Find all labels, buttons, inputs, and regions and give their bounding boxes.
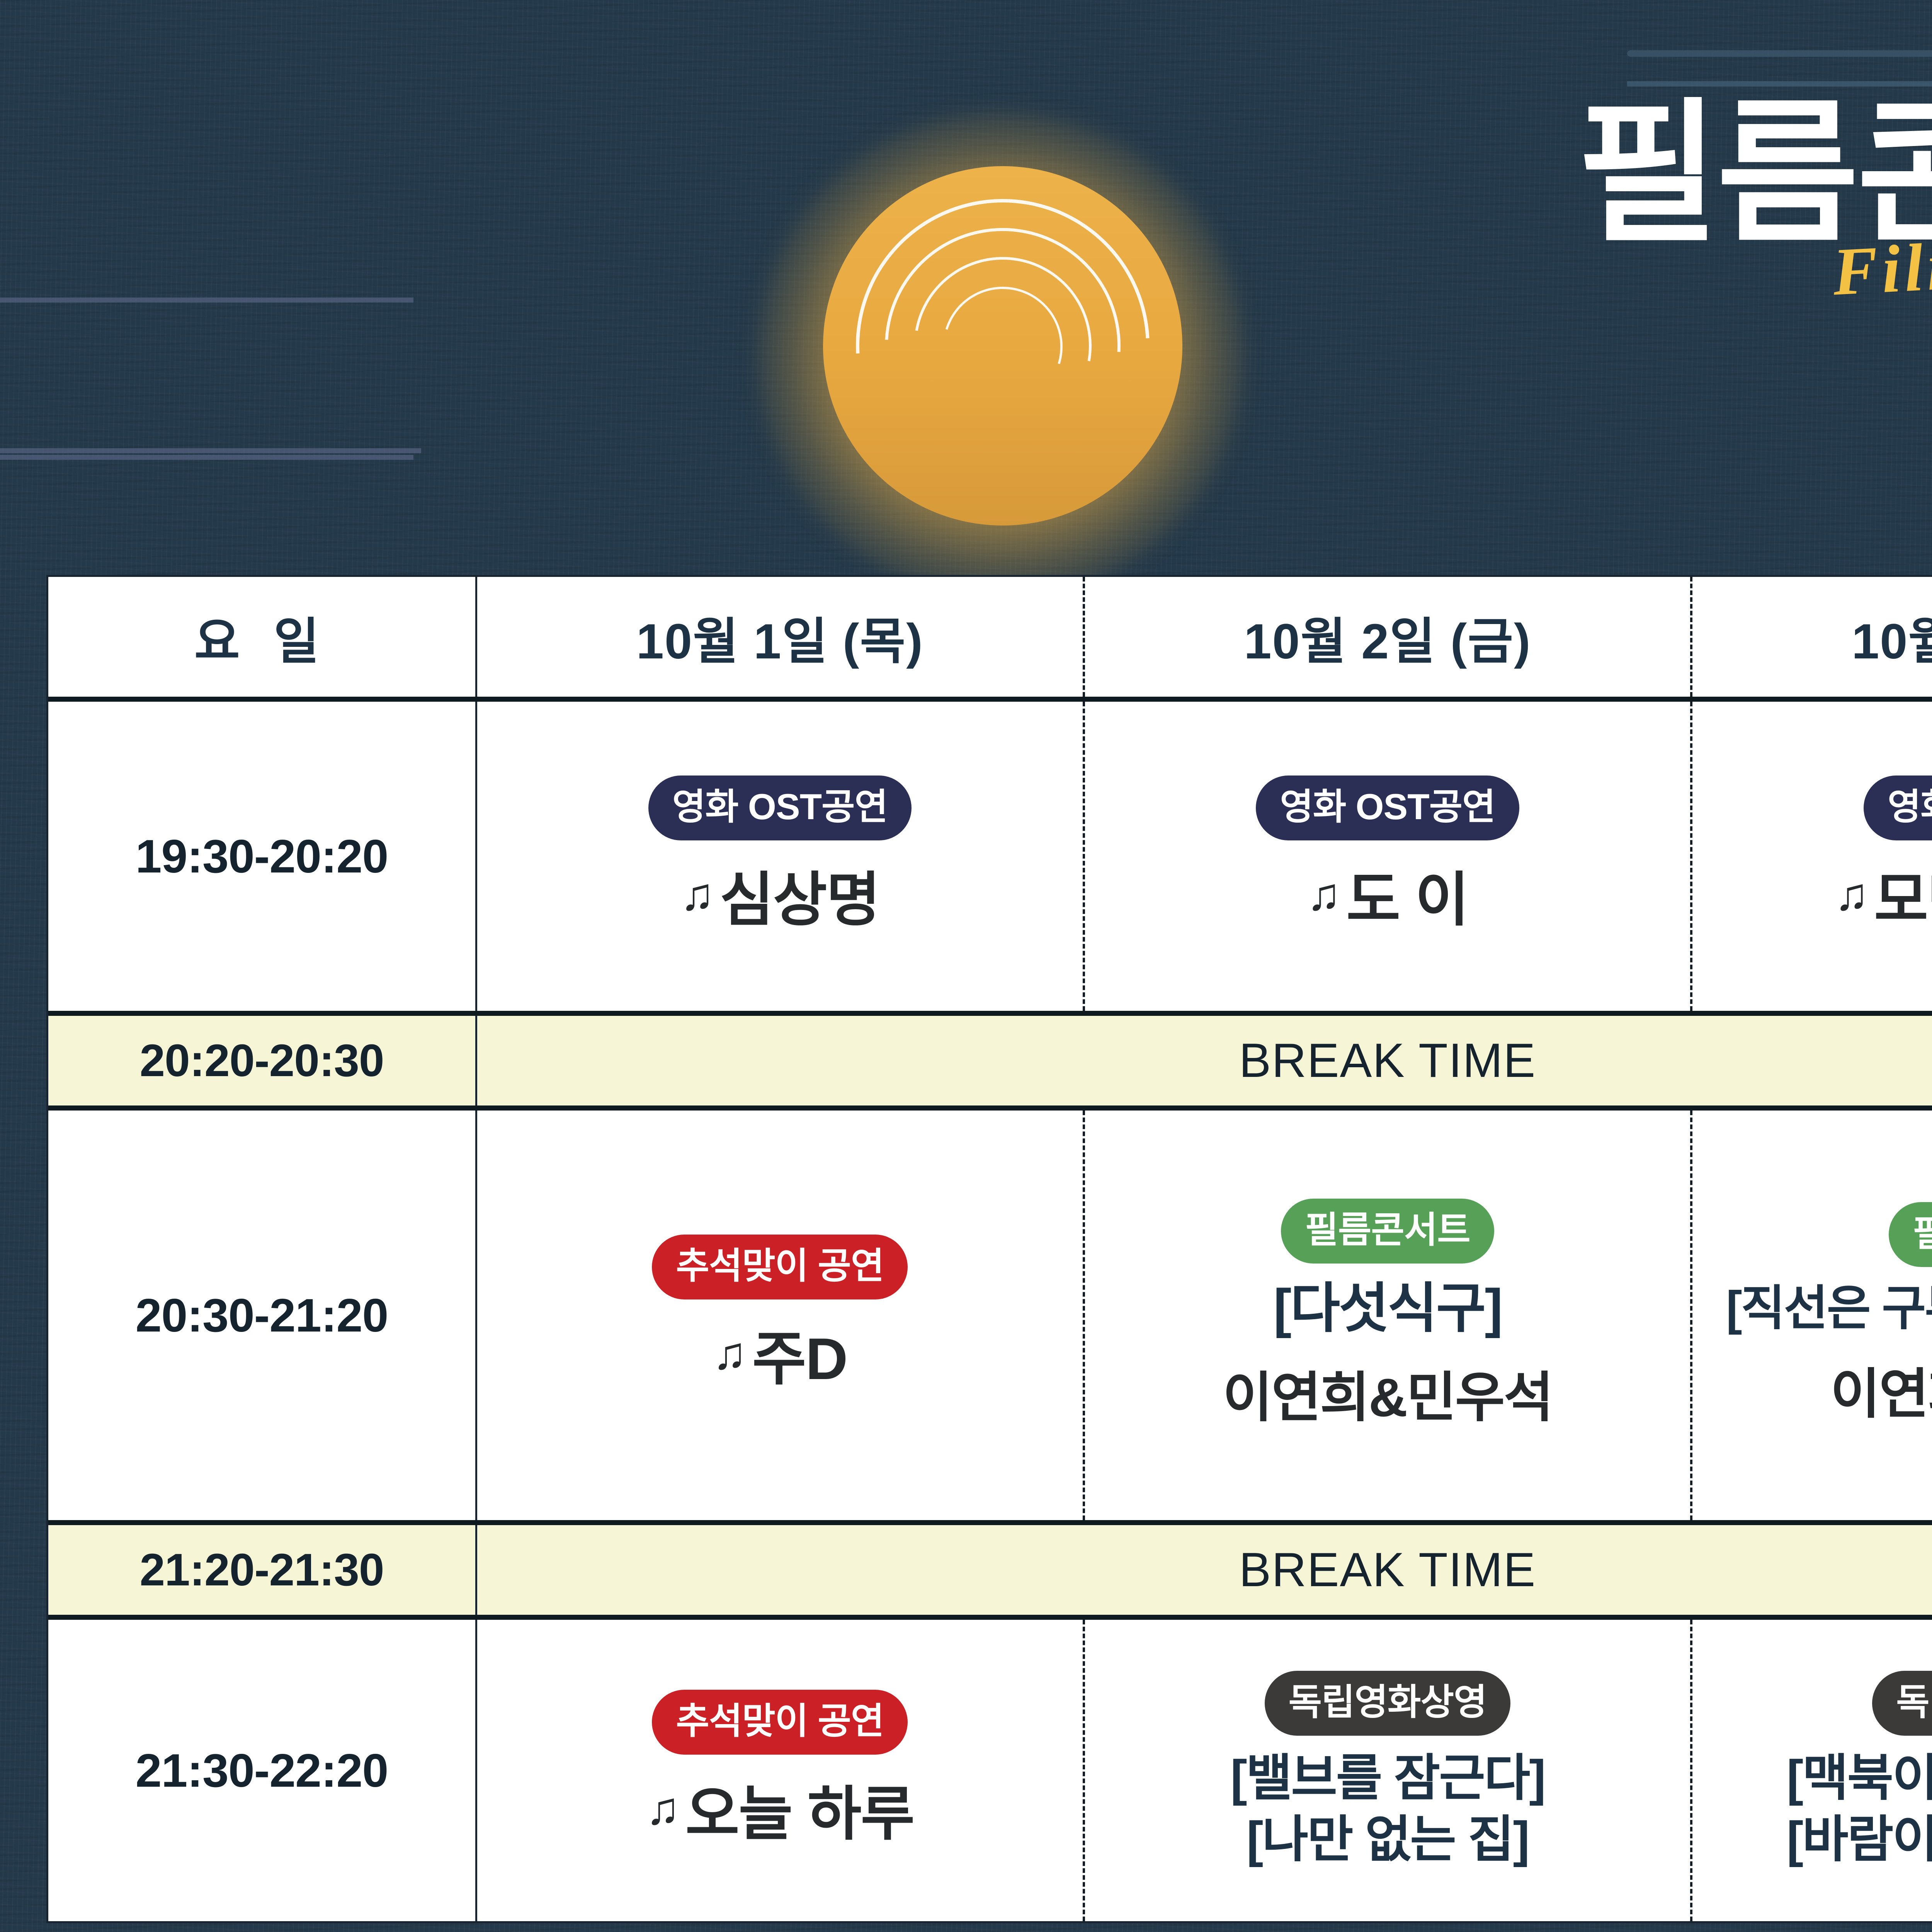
film-title: [직선은 구부러질 수 있는가]	[1726, 1282, 1932, 1335]
time-cell: 20:20-20:30	[48, 1016, 477, 1105]
program-badge: 독립영화상영	[1265, 1671, 1511, 1736]
program-badge: 독립영화상영	[1872, 1671, 1932, 1736]
program-badge: 추석맞이 공연	[652, 1690, 908, 1755]
music-note-icon: ♫	[1835, 872, 1868, 917]
break-row: 21:20-21:30 BREAK TIME	[48, 1525, 1932, 1620]
program-cell: 영화 OST공연 ♫ 심상명	[477, 702, 1083, 1011]
artist-name: 도 이	[1346, 852, 1468, 937]
program-badge: 추석맞이 공연	[652, 1235, 908, 1299]
time-cell: 21:30-22:20	[48, 1620, 477, 1921]
program-cell: 독립영화상영 [밸브를 잠근다] [나만 없는 집]	[1083, 1620, 1690, 1921]
artist-line: ♫ 오늘 하루	[646, 1766, 914, 1851]
schedule-table: 요 일 10월 1일 (목) 10월 2일 (금) 10월 3일 (토) 19:…	[46, 575, 1932, 1923]
decorative-line-top-left-2	[0, 448, 421, 453]
table-row: 19:30-20:20 영화 OST공연 ♫ 심상명 영화 OST공연 ♫ 도 …	[48, 702, 1932, 1016]
time-label: 20:30-21:20	[136, 1288, 388, 1342]
time-label: 21:30-22:20	[136, 1743, 388, 1798]
program-cell: 영화 OST공연 ♫ 모멘츠 유미	[1690, 702, 1932, 1011]
time-cell: 20:30-21:20	[48, 1111, 477, 1520]
program-badge: 영화 OST공연	[1256, 776, 1519, 840]
program-cell: 영화 OST공연 ♫ 도 이	[1083, 702, 1690, 1011]
music-note-icon: ♫	[646, 1786, 679, 1832]
program-badge: 영화 OST공연	[1864, 776, 1932, 840]
header-cell-oct2: 10월 2일 (금)	[1083, 577, 1690, 697]
film-title: [나만 없는 집]	[1247, 1809, 1529, 1870]
artist-name: 심상명	[720, 852, 880, 937]
program-badge: 필름콘서트	[1889, 1202, 1932, 1267]
decorative-line-top-left	[0, 298, 413, 460]
artist-name: 모멘츠 유미	[1874, 852, 1932, 937]
program-cell: 독립영화상영 [맥북이면 다 되지요] [바람이 지나간 자리]	[1690, 1620, 1932, 1921]
program-badge: 필름콘서트	[1281, 1199, 1494, 1264]
poster-title-block: 필름콘서트 Film Concert 秋夕	[1233, 97, 1932, 316]
header-label-oct3: 10월 3일 (토)	[1852, 601, 1932, 673]
artist-line: ♫ 심상명	[680, 852, 879, 937]
film-title: [바람이 지나간 자리]	[1787, 1809, 1932, 1870]
program-cell: 추석맞이 공연 ♫ 오늘 하루	[477, 1620, 1083, 1921]
program-cell: 추석맞이 공연 ♫ 주D	[477, 1111, 1083, 1520]
film-title: [다섯식구]	[1274, 1278, 1502, 1339]
poster-root: 필름콘서트 Film Concert 秋夕 요 일 10월 1일 (목) 10월…	[0, 0, 1932, 1932]
time-label: 20:20-20:30	[140, 1034, 384, 1087]
header-cell-oct1: 10월 1일 (목)	[477, 577, 1083, 697]
break-label: BREAK TIME	[1239, 1543, 1536, 1597]
artist-name: 오늘 하루	[685, 1766, 914, 1851]
music-note-icon: ♫	[680, 872, 714, 917]
artist-line: ♫ 주D	[713, 1311, 847, 1396]
time-label: 19:30-20:20	[136, 829, 388, 883]
time-cell: 21:20-21:30	[48, 1525, 477, 1615]
music-note-icon: ♫	[713, 1331, 746, 1376]
artist-line: ♫ 모멘츠 유미	[1835, 852, 1932, 937]
table-row: 20:30-21:20 추석맞이 공연 ♫ 주D 필름콘서트 [다섯식구] 이연…	[48, 1111, 1932, 1525]
table-header-row: 요 일 10월 1일 (목) 10월 2일 (금) 10월 3일 (토)	[48, 577, 1932, 702]
header-label-oct1: 10월 1일 (목)	[636, 601, 923, 673]
header-label-oct2: 10월 2일 (금)	[1244, 601, 1531, 673]
break-label-cell: BREAK TIME	[477, 1525, 1932, 1615]
header-label-day: 요 일	[194, 601, 329, 673]
time-label: 21:20-21:30	[140, 1544, 384, 1596]
film-title: [맥북이면 다 되지요]	[1787, 1747, 1932, 1809]
header-cell-oct3: 10월 3일 (토)	[1690, 577, 1932, 697]
poster-title-korean: 필름콘서트	[1233, 97, 1932, 251]
program-cell: 필름콘서트 [직선은 구부러질 수 있는가] 이연희&민우석	[1690, 1111, 1932, 1520]
break-label: BREAK TIME	[1239, 1033, 1536, 1088]
break-label-cell: BREAK TIME	[477, 1016, 1932, 1105]
artist-line: ♫ 도 이	[1307, 852, 1468, 937]
break-row: 20:20-20:30 BREAK TIME	[48, 1016, 1932, 1111]
table-row: 21:30-22:20 추석맞이 공연 ♫ 오늘 하루 독립영화상영 [밸브를 …	[48, 1620, 1932, 1921]
decorative-line-top-right-2	[1627, 50, 1932, 57]
program-badge: 영화 OST공연	[648, 776, 912, 840]
music-note-icon: ♫	[1307, 872, 1340, 917]
performers-label: 이연희&민우석	[1223, 1354, 1553, 1432]
artist-name: 주D	[752, 1311, 847, 1396]
header-cell-day: 요 일	[48, 577, 477, 697]
performers-label: 이연희&민우석	[1830, 1350, 1932, 1429]
time-cell: 19:30-20:20	[48, 702, 477, 1011]
program-cell: 필름콘서트 [다섯식구] 이연희&민우석	[1083, 1111, 1690, 1520]
film-title: [밸브를 잠근다]	[1230, 1747, 1544, 1809]
